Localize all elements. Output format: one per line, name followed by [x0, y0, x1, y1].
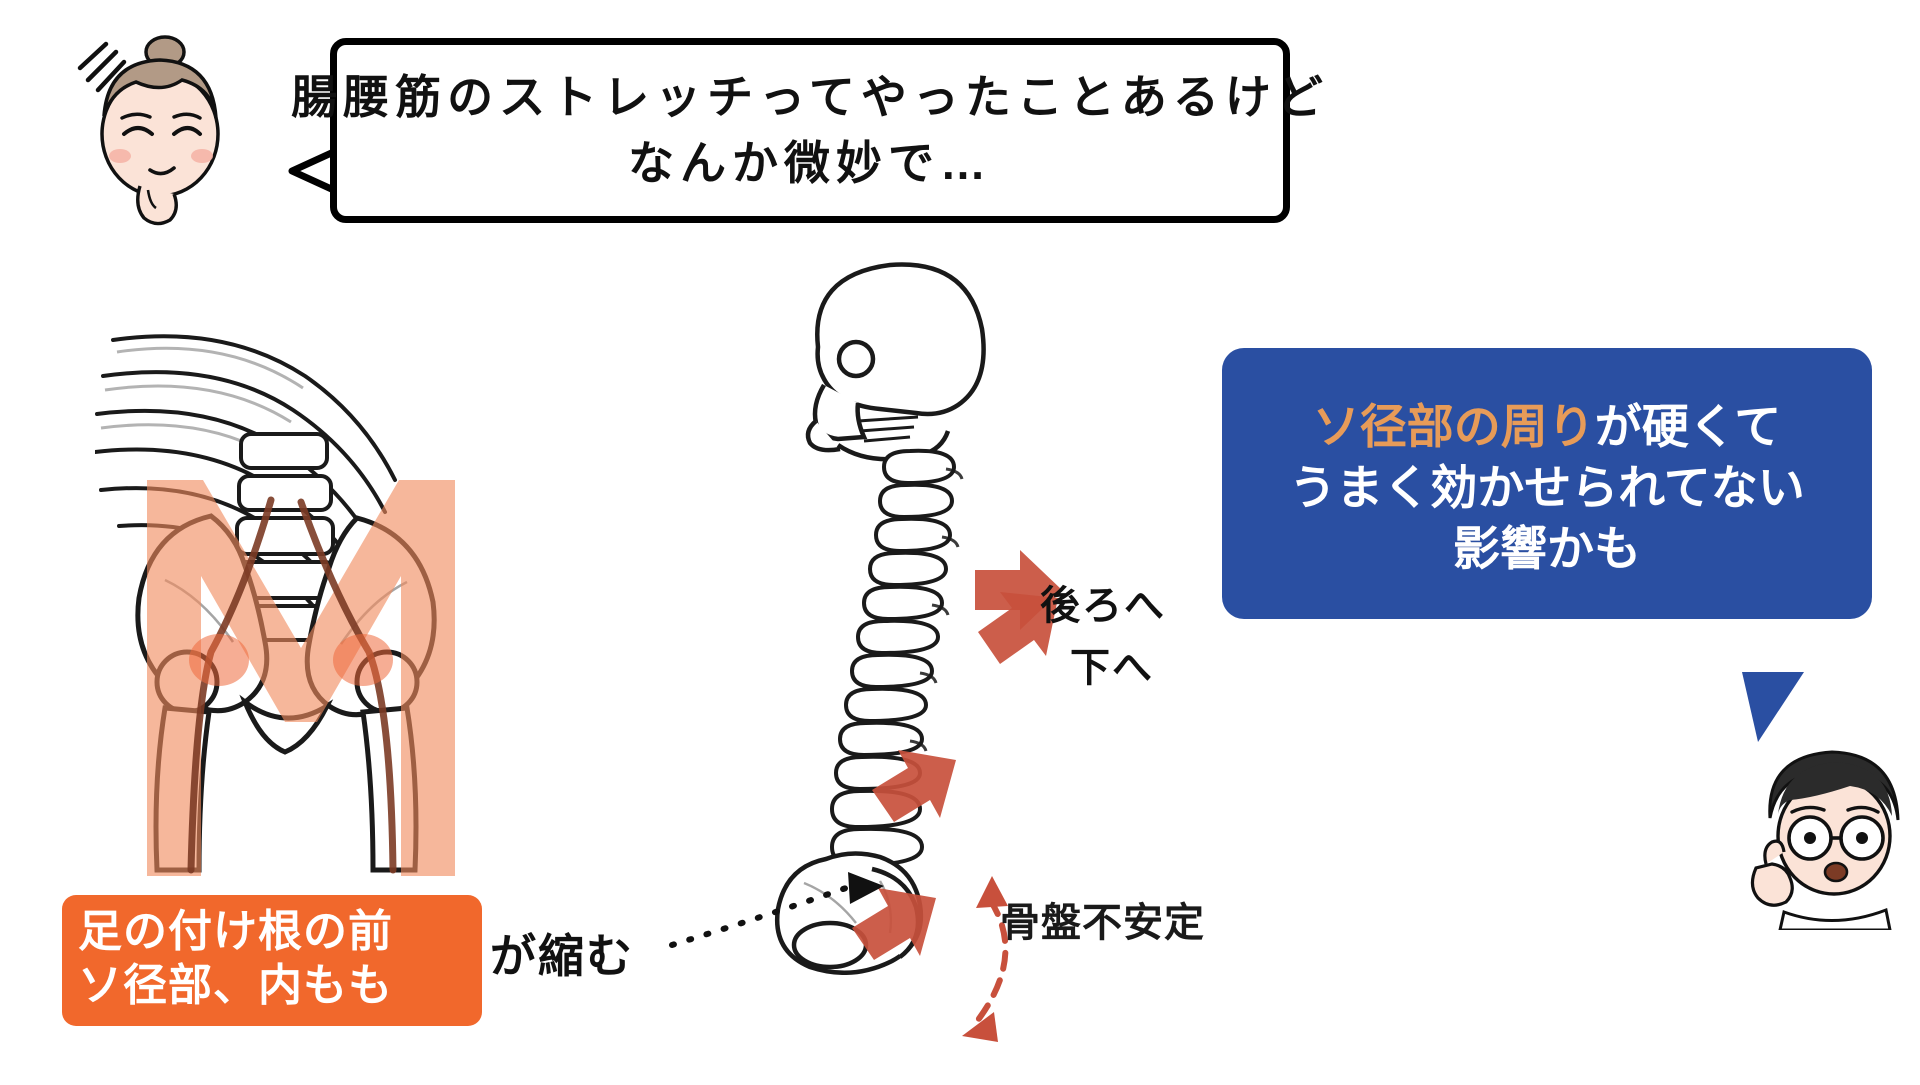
hip-skeleton-illustration [95, 330, 515, 890]
orange-callout-line-1: 足の付け根の前 [78, 905, 466, 959]
label-downward: 下へ [1070, 635, 1154, 693]
rotation-arrow-head-bottom [962, 1012, 998, 1042]
speech-bubble: 腸腰筋のストレッチってやったことあるけど なんか微妙で… [330, 38, 1290, 223]
blue-callout-highlight: ソ径部の周り [1313, 400, 1595, 453]
spine-skeleton-illustration [760, 255, 1080, 975]
speech-bubble-line-1: 腸腰筋のストレッチってやったことあるけど [291, 65, 1329, 130]
avatar-pointing-man [1740, 740, 1915, 930]
label-shrinks: が縮む [490, 920, 634, 986]
orange-callout-box: 足の付け根の前 ソ径部、内もも [62, 895, 482, 1026]
blue-callout-line-1: ソ径部の周りが硬くて [1248, 396, 1846, 457]
blue-callout-line-3: 影響かも [1248, 518, 1846, 579]
vertebral-column [832, 451, 954, 865]
blue-callout-box: ソ径部の周りが硬くて うまく効かせられてない 影響かも [1222, 348, 1872, 619]
avatar-thinking-woman [62, 30, 252, 230]
blue-callout-line-1-rest: が硬くて [1595, 400, 1782, 453]
orange-callout-line-2: ソ径部、内もも [78, 959, 466, 1013]
blue-callout-tail [1742, 672, 1812, 744]
infographic-canvas: 腸腰筋のストレッチってやったことあるけど なんか微妙で… [0, 0, 1920, 1080]
blue-callout-line-2: うまく効かせられてない [1248, 457, 1846, 518]
skull [808, 265, 984, 451]
label-backward: 後ろへ [1040, 573, 1166, 631]
label-pelvis-instability: 骨盤不安定 [1000, 890, 1205, 948]
speech-bubble-line-2: なんか微妙で… [628, 131, 992, 196]
